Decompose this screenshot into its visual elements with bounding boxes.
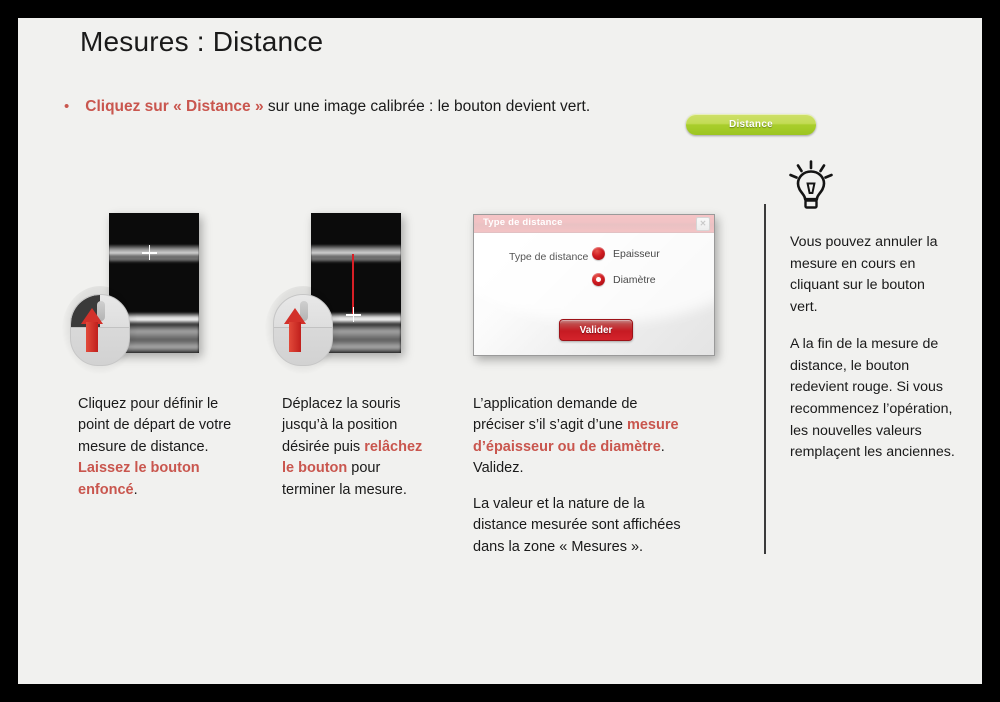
radio-label-epaisseur: Epaisseur [613,248,660,260]
release-arrow-icon [284,308,306,352]
tip-panel: Vous pouvez annuler la mesure en cours e… [790,232,955,464]
bullet-highlight: Cliquez sur « Distance » [85,98,263,115]
bullet-text: Cliquez sur « Distance » sur une image c… [85,98,590,116]
caption-1-part1: Cliquez pour définir le point de départ … [78,396,231,455]
tip-paragraph-2: A la fin de la mesure de distance, le bo… [790,334,955,463]
caption-1-highlight: Laissez le bouton enfoncé [78,460,200,497]
mouse-icon-released [273,294,333,366]
mouse-icon-pressed [70,294,130,366]
dialog-field-label: Type de distance [509,251,588,263]
distance-button[interactable]: Distance [686,114,816,135]
dialog-body: Type de distance Epaisseur Diamètre Vali… [474,233,714,355]
slide-canvas: Mesures : Distance • Cliquez sur « Dista… [18,18,982,684]
caption-3-p1-part1: L’application demande de préciser s’il s… [473,396,637,433]
radio-option-diametre[interactable]: Diamètre [592,273,656,286]
press-arrow-icon [81,308,103,352]
valider-button[interactable]: Valider [559,319,633,341]
tissue-band-top2 [311,255,401,263]
caption-1-part2: . [134,482,138,498]
caption-2: Déplacez la souris jusqu’à la position d… [282,394,437,501]
caption-3-p2: La valeur et la nature de la distance me… [473,494,688,558]
page-title: Mesures : Distance [80,26,323,58]
radio-icon-diametre[interactable] [592,273,605,286]
caption-3: L’application demande de préciser s’il s… [473,394,688,558]
arrow-shaft [86,322,98,352]
lightbulb-icon [788,160,834,210]
tip-paragraph-1: Vous pouvez annuler la mesure en cours e… [790,232,955,318]
caption-1: Cliquez pour définir le point de départ … [78,394,243,501]
tip-divider [764,204,766,554]
radio-icon-epaisseur[interactable] [592,247,605,260]
tissue-band-top2 [109,255,199,263]
bullet-row: • Cliquez sur « Distance » sur une image… [64,98,764,116]
bullet-rest: sur une image calibrée : le bouton devie… [264,98,591,115]
radio-option-epaisseur[interactable]: Epaisseur [592,247,660,260]
radio-label-diametre: Diamètre [613,274,656,286]
arrow-shaft [289,322,301,352]
bullet-marker-icon: • [64,99,69,114]
radio-selected-dot [596,277,601,282]
type-de-distance-dialog[interactable]: Type de distance ✕ Type de distance Epai… [473,214,715,356]
